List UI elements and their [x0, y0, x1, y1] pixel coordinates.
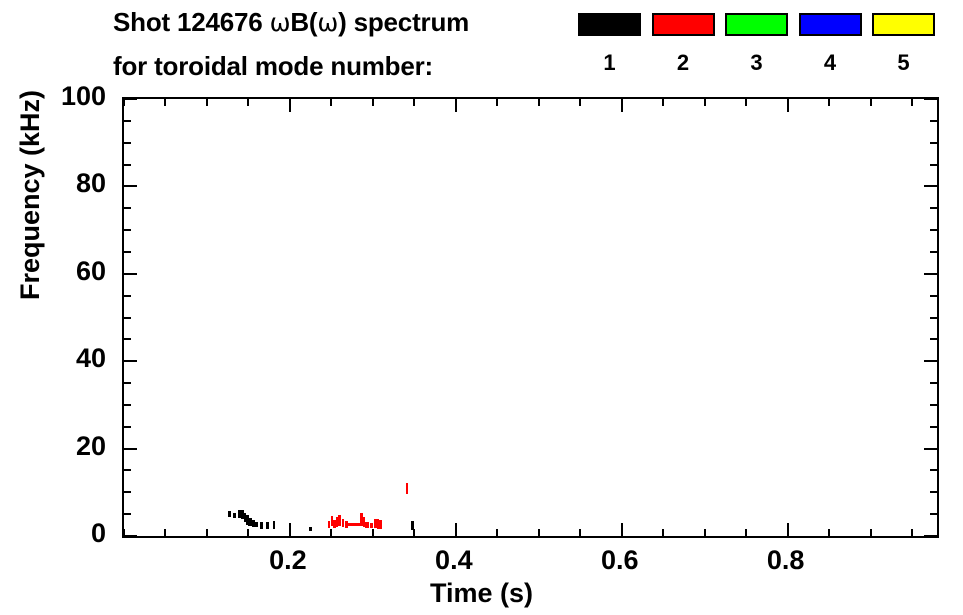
data-mark-n1: [266, 522, 268, 529]
x-tick-bottom-0.2: [289, 523, 291, 536]
plot-data-area: [124, 99, 937, 536]
legend-label-2: 2: [652, 51, 715, 75]
x-tick-top-0.7: [704, 99, 706, 106]
y-tick-left-90: [124, 142, 131, 144]
data-mark-n2: [365, 522, 368, 528]
x-tick-bottom-0.45: [496, 529, 498, 536]
x-tick-bottom-0.5: [538, 529, 540, 536]
y-tick-left-80: [124, 185, 137, 187]
y-tick-left-45: [124, 338, 131, 340]
x-tick-bottom-0.4: [455, 523, 457, 536]
y-tick-left-85: [124, 164, 131, 166]
x-tick-top-0.95: [911, 99, 913, 106]
x-tick-top-0.65: [662, 99, 664, 106]
data-mark-n1: [260, 522, 262, 529]
x-tick-top-0.2: [289, 99, 291, 112]
y-tick-left-100: [124, 98, 137, 100]
title-suffix: ) spectrum: [338, 7, 469, 37]
y-tick-left-35: [124, 382, 131, 384]
x-tick-top-0.6: [621, 99, 623, 112]
x-tick-top-0.5: [538, 99, 540, 106]
y-tick-right-25: [930, 426, 937, 428]
x-tick-bottom-0.65: [662, 529, 664, 536]
x-tick-top-0.9: [870, 99, 872, 106]
y-tick-left-70: [124, 229, 131, 231]
y-tick-right-15: [930, 469, 937, 471]
data-mark-n1: [228, 511, 231, 517]
data-mark-n1: [255, 522, 257, 527]
legend-label-4: 4: [799, 51, 862, 75]
y-tick-left-95: [124, 120, 131, 122]
spectrum-plot-figure: Shot 124676 ωB(ω) spectrum for toroidal …: [0, 0, 963, 615]
x-tick-bottom-0.8: [787, 523, 789, 536]
y-tick-right-95: [930, 120, 937, 122]
legend-item-5[interactable]: 5: [872, 13, 936, 87]
y-tick-left-5: [124, 513, 131, 515]
x-tick-label-0.8: 0.8: [741, 545, 831, 575]
data-mark-n2: [377, 520, 381, 529]
omega-symbol-2: ω: [317, 8, 338, 37]
x-tick-top-0.3: [372, 99, 374, 106]
y-tick-right-100: [924, 98, 937, 100]
data-mark-n1: [233, 513, 235, 518]
y-tick-left-55: [124, 295, 131, 297]
data-mark-n2: [328, 521, 330, 528]
y-tick-label-0: 0: [6, 518, 106, 548]
legend-label-3: 3: [725, 51, 788, 75]
y-tick-right-30: [930, 404, 937, 406]
y-tick-left-50: [124, 317, 131, 319]
x-tick-top-0: [123, 99, 125, 106]
x-tick-top-0.75: [745, 99, 747, 106]
plot-frame: [122, 97, 939, 538]
x-tick-label-0.4: 0.4: [409, 545, 499, 575]
y-tick-right-5: [930, 513, 937, 515]
x-tick-top-0.55: [579, 99, 581, 106]
y-tick-right-10: [930, 491, 937, 493]
y-tick-right-85: [930, 164, 937, 166]
x-tick-top-0.25: [330, 99, 332, 106]
x-tick-label-0.2: 0.2: [243, 545, 333, 575]
omega-symbol-1: ω: [270, 8, 291, 37]
x-tick-bottom-0.15: [247, 529, 249, 536]
legend-label-5: 5: [872, 51, 935, 75]
y-tick-right-50: [930, 317, 937, 319]
x-tick-bottom-0.6: [621, 523, 623, 536]
y-tick-right-75: [930, 207, 937, 209]
data-mark-n1: [309, 527, 311, 531]
legend-swatch-5: [872, 13, 935, 36]
y-tick-left-25: [124, 426, 131, 428]
figure-title-line-2: for toroidal mode number:: [113, 51, 433, 81]
y-tick-left-75: [124, 207, 131, 209]
data-mark-n2: [406, 483, 408, 494]
x-tick-bottom-0.3: [372, 529, 374, 536]
y-tick-left-40: [124, 360, 137, 362]
x-tick-top-0.45: [496, 99, 498, 106]
y-tick-right-55: [930, 295, 937, 297]
x-tick-bottom-0.35: [413, 529, 415, 536]
y-tick-right-0: [924, 535, 937, 537]
x-tick-top-0.15: [247, 99, 249, 106]
x-tick-top-0.8: [787, 99, 789, 112]
legend-item-4[interactable]: 4: [799, 13, 863, 87]
x-tick-bottom-0.25: [330, 529, 332, 536]
title-mid: B(: [290, 7, 317, 37]
y-tick-left-10: [124, 491, 131, 493]
legend-swatch-3: [725, 13, 788, 36]
title-prefix: Shot 124676: [113, 7, 270, 37]
x-tick-top-0.05: [164, 99, 166, 106]
legend-swatch-1: [578, 13, 641, 36]
legend: 12345: [578, 13, 948, 87]
x-tick-bottom-0.95: [911, 529, 913, 536]
y-axis-title: Frequency (kHz): [15, 0, 45, 405]
data-mark-n1: [252, 520, 254, 527]
data-mark-n2: [370, 523, 373, 528]
legend-item-2[interactable]: 2: [652, 13, 716, 87]
x-tick-bottom-0.55: [579, 529, 581, 536]
data-mark-n2: [346, 523, 354, 526]
y-tick-label-20: 20: [6, 431, 106, 461]
legend-swatch-4: [799, 13, 862, 36]
y-tick-right-70: [930, 229, 937, 231]
y-tick-right-20: [924, 448, 937, 450]
y-tick-left-15: [124, 469, 131, 471]
x-tick-top-0.1: [206, 99, 208, 106]
x-tick-label-0.6: 0.6: [575, 545, 665, 575]
legend-swatch-2: [652, 13, 715, 36]
y-tick-right-90: [930, 142, 937, 144]
y-tick-left-30: [124, 404, 131, 406]
y-tick-right-80: [924, 185, 937, 187]
x-tick-bottom-0.7: [704, 529, 706, 536]
y-tick-right-35: [930, 382, 937, 384]
x-tick-bottom-0.85: [828, 529, 830, 536]
y-axis-title-wrapper: Frequency (kHz): [15, 0, 55, 405]
x-tick-bottom-0.05: [164, 529, 166, 536]
x-tick-bottom-0.9: [870, 529, 872, 536]
y-tick-left-0: [124, 535, 137, 537]
data-mark-n1: [273, 521, 275, 529]
y-tick-left-20: [124, 448, 137, 450]
x-tick-bottom-0.75: [745, 529, 747, 536]
y-tick-right-65: [930, 251, 937, 253]
y-tick-right-40: [924, 360, 937, 362]
legend-item-1[interactable]: 1: [578, 13, 642, 87]
legend-label-1: 1: [578, 51, 641, 75]
legend-item-3[interactable]: 3: [725, 13, 789, 87]
y-tick-left-65: [124, 251, 131, 253]
y-tick-right-45: [930, 338, 937, 340]
figure-title-line-1: Shot 124676 ωB(ω) spectrum: [113, 7, 469, 38]
x-tick-top-0.4: [455, 99, 457, 112]
x-tick-bottom-0.1: [206, 529, 208, 536]
x-axis-title: Time (s): [0, 578, 963, 608]
y-tick-left-60: [124, 273, 137, 275]
x-tick-top-0.35: [413, 99, 415, 106]
y-tick-right-60: [924, 273, 937, 275]
x-tick-top-0.85: [828, 99, 830, 106]
